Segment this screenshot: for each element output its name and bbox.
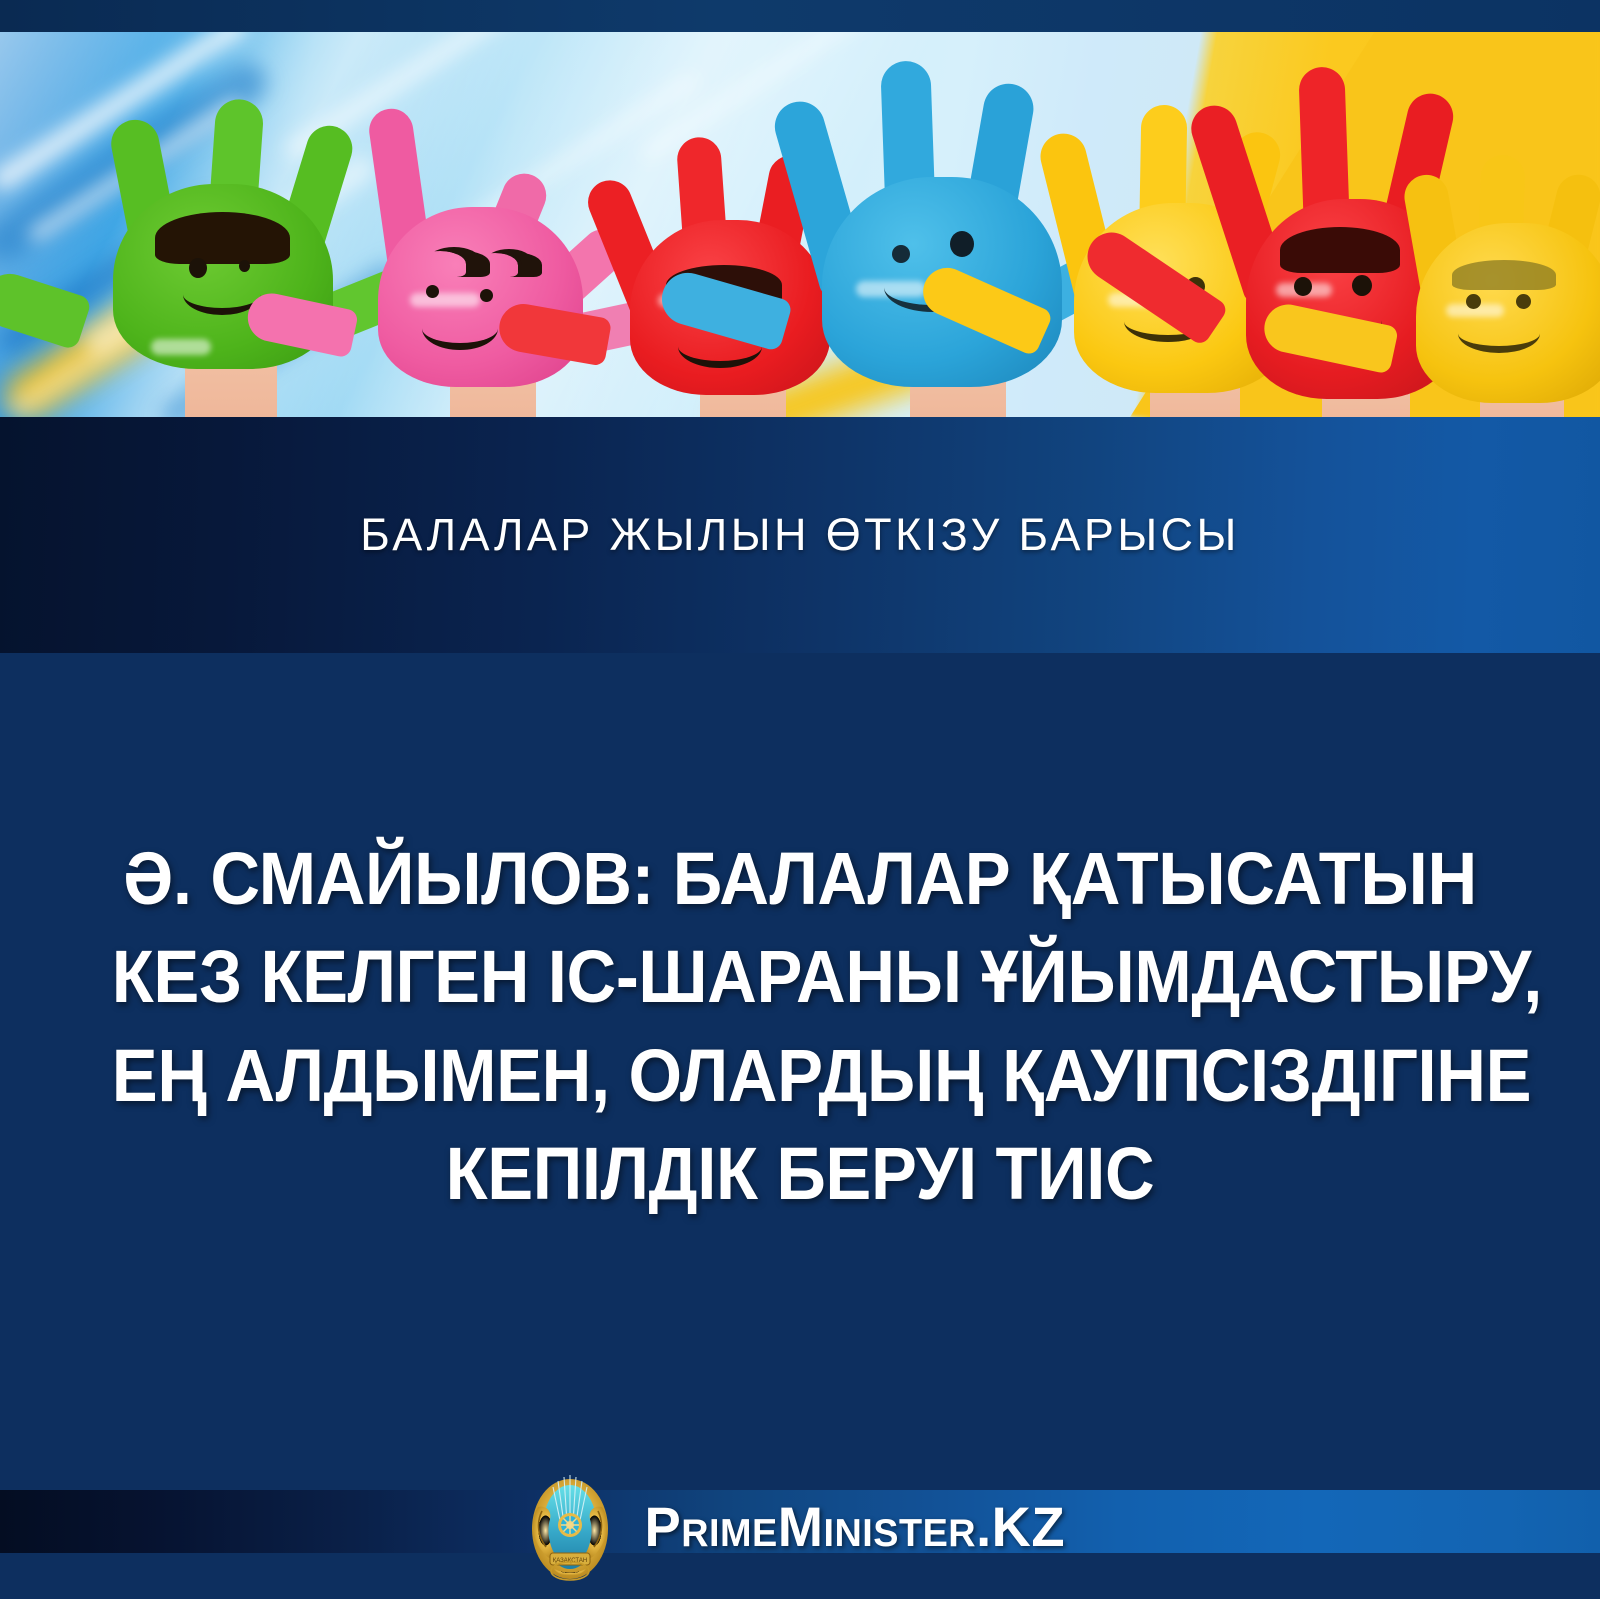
hero-photo-banner (0, 32, 1600, 417)
painted-hair (155, 212, 290, 264)
top-bar (0, 0, 1600, 32)
kazakhstan-state-emblem-icon: ҚАЗАҚСТАН (528, 1467, 612, 1587)
headline: Ә. СМАЙЫЛОВ: БАЛАЛАР ҚАТЫСАТЫН КЕЗ КЕЛГЕ… (112, 830, 1488, 1224)
wordmark-text: PrimeMinister.KZ (645, 1499, 1066, 1555)
painted-eye (1352, 275, 1372, 296)
painted-eye (480, 289, 493, 302)
svg-text:ҚАЗАҚСТАН: ҚАЗАҚСТАН (553, 1558, 588, 1564)
poster-root: БАЛАЛАР ЖЫЛЫН ӨТКІЗУ БАРЫСЫ Ә. СМАЙЫЛОВ:… (0, 0, 1600, 1599)
subtitle-text: БАЛАЛАР ЖЫЛЫН ӨТКІЗУ БАРЫСЫ (0, 417, 1600, 653)
painted-eye (950, 231, 974, 257)
painted-hair (1452, 260, 1556, 290)
painted-eye (426, 285, 439, 298)
painted-eye (1516, 294, 1531, 309)
painted-eye (1466, 294, 1481, 309)
headline-line-1: Ә. СМАЙЫЛОВ: БАЛАЛАР ҚАТЫСАТЫН (112, 830, 1488, 928)
painted-mouth (1458, 314, 1540, 353)
headline-line-4: КЕПІЛДІК БЕРУІ ТИІС (112, 1125, 1488, 1223)
painted-hair (472, 253, 518, 277)
headline-line-3: ЕҢ АЛДЫМЕН, ОЛАРДЫҢ ҚАУІПСІЗДІГІНЕ (112, 1027, 1488, 1125)
painted-face (1436, 258, 1591, 383)
yellow-hand-2 (1370, 77, 1600, 417)
painted-eye (892, 245, 910, 263)
painted-mouth (422, 307, 498, 350)
painted-eye (1294, 277, 1312, 296)
painted-hair (414, 251, 466, 277)
footer-logo[interactable]: ҚАЗАҚСТАН PrimeMinister.KZ (0, 1462, 1600, 1592)
headline-line-2: КЕЗ КЕЛГЕН ІС-ШАРАНЫ ҰЙЫМДАСТЫРУ, (112, 928, 1488, 1026)
painted-eye (239, 260, 250, 272)
